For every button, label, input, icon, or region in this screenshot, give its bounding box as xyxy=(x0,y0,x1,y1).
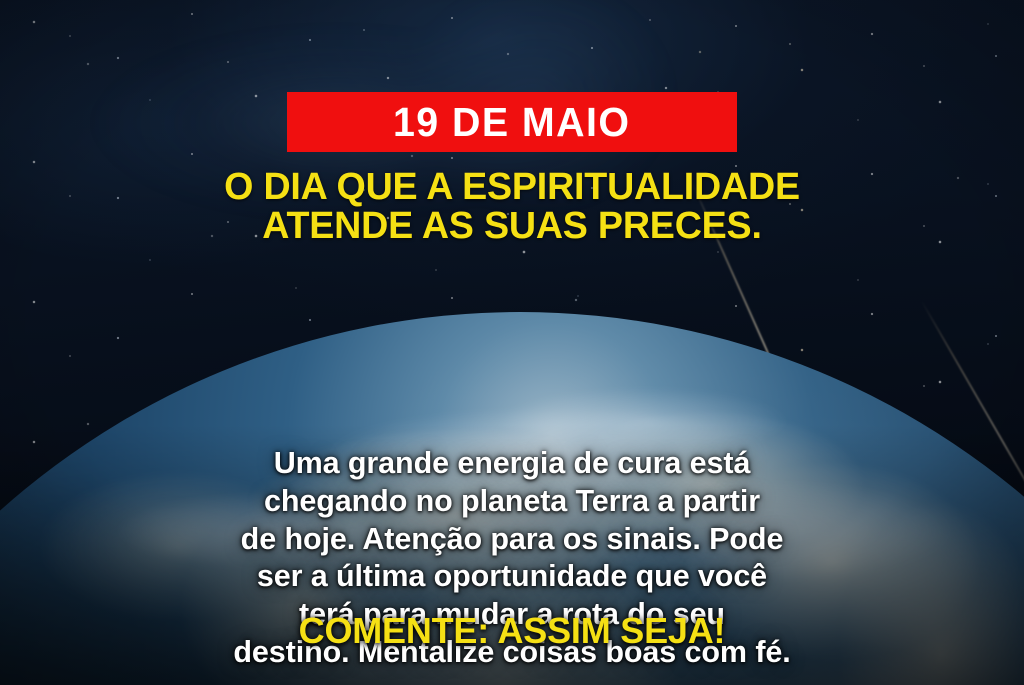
call-to-action-text: COMENTE: ASSIM SEJA! xyxy=(299,610,726,651)
social-media-poster: 19 DE MAIO O DIA QUE A ESPIRITUALIDADE A… xyxy=(0,0,1024,685)
date-banner: 19 DE MAIO xyxy=(287,92,737,152)
poster-content: 19 DE MAIO O DIA QUE A ESPIRITUALIDADE A… xyxy=(0,0,1024,685)
headline-line-1: O DIA QUE A ESPIRITUALIDADE xyxy=(33,168,991,207)
body-line-4: ser a última oportunidade que você xyxy=(40,558,984,596)
call-to-action: COMENTE: ASSIM SEJA! xyxy=(0,612,1024,650)
headline-line-2: ATENDE AS SUAS PRECES. xyxy=(33,207,991,246)
body-line-2: chegando no planeta Terra a partir xyxy=(40,483,984,521)
body-line-1: Uma grande energia de cura está xyxy=(40,445,984,483)
body-line-3: de hoje. Atenção para os sinais. Pode xyxy=(40,521,984,559)
date-banner-text: 19 DE MAIO xyxy=(393,102,630,143)
headline: O DIA QUE A ESPIRITUALIDADE ATENDE AS SU… xyxy=(0,168,1024,246)
